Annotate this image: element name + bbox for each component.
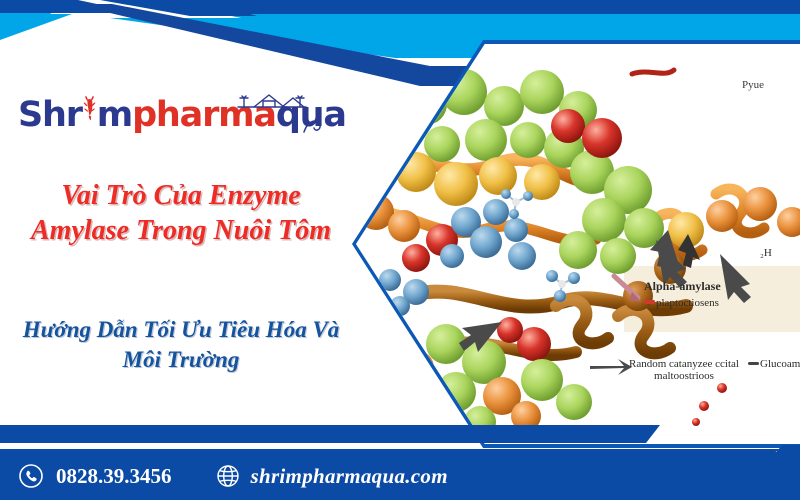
page-subtitle: Hướng Dẫn Tối Ưu Tiêu Hóa Và Môi Trường (12, 315, 350, 375)
wave-swirl-icon (301, 112, 327, 138)
page-title: Vai Trò Của Enzyme Amylase Trong Nuôi Tô… (12, 178, 350, 248)
diagram-label-enzyme-sub: plaptoctiosens (656, 297, 719, 309)
alpha-amylase-protein-structure-diagram (356, 44, 800, 444)
footer-phone-number[interactable]: 0828.39.3456 (56, 464, 172, 489)
poster-canvas: Shrmpharmaqua Vai Trò Của Enzyme Amylase… (0, 0, 800, 500)
logo-text-shr: Shr (18, 95, 82, 135)
shrimp-icon (82, 93, 97, 139)
diagram-label-pyruvate: Pyue (742, 79, 764, 91)
footer-website-url[interactable]: shrimpharmaqua.com (251, 464, 448, 489)
diagram-label-water: ₂H (760, 247, 772, 259)
hexagon-image-panel: Pyue ₂H Alpha-amylase plaptoctiosens Ran… (352, 40, 800, 448)
contact-footer-bar: 0828.39.3456 shrimpharmaqua.com (0, 452, 800, 500)
diagram-label-alpha-amylase: Alpha-amylase (644, 279, 721, 294)
diagram-label-random-note: Random catanyzee ccital maltoostrioos (624, 358, 744, 382)
globe-icon (216, 464, 240, 488)
diagram-label-glucoamylase: Glucoam (760, 358, 800, 370)
house-roof-icon (236, 90, 308, 110)
footer-website-item[interactable]: shrimpharmaqua.com (216, 464, 448, 489)
brand-logo[interactable]: Shrmpharmaqua (18, 92, 338, 142)
hexagon-image-clip: Pyue ₂H Alpha-amylase plaptoctiosens Ran… (356, 44, 800, 444)
footer-phone-item[interactable]: 0828.39.3456 (18, 463, 172, 489)
phone-icon (18, 463, 44, 489)
logo-text-m: m (97, 95, 132, 135)
